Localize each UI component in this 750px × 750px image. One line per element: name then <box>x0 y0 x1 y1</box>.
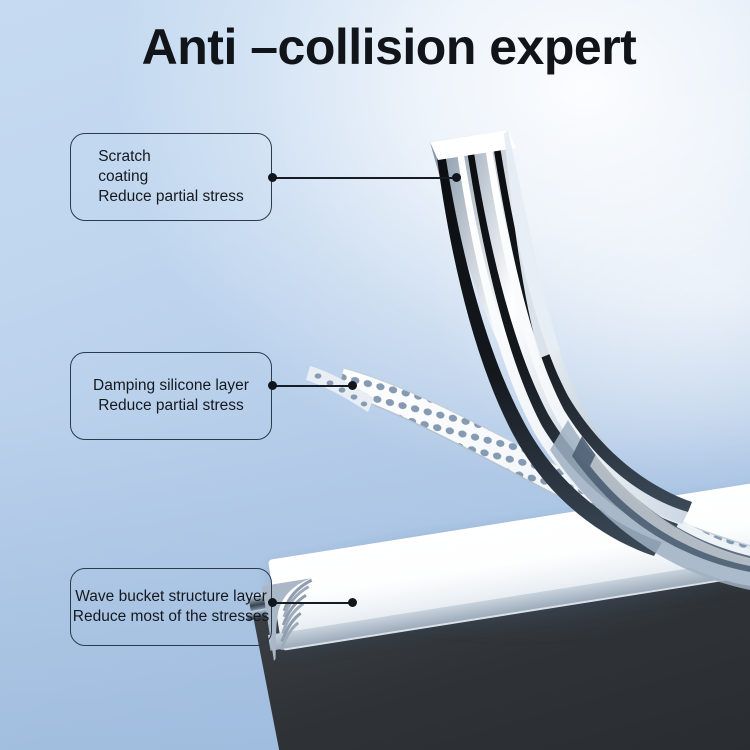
callout-text-group: Damping silicone layer Reduce partial st… <box>65 376 277 416</box>
connector-dot-target-wave-bucket-structure-layer <box>348 598 357 607</box>
callout-line: coating <box>98 167 244 187</box>
product-marketing-image: Anti –collision expert Scratch coating R… <box>0 0 750 750</box>
callout-scratch-coating[interactable]: Scratch coating Reduce partial stress <box>70 133 272 221</box>
callout-line: Reduce partial stress <box>98 187 244 207</box>
callout-damping-silicone-layer[interactable]: Damping silicone layer Reduce partial st… <box>70 352 272 440</box>
connector-dot-target-scratch-coating <box>452 173 461 182</box>
connector-dot-box-damping-silicone-layer <box>268 381 277 390</box>
page-title: Anti –collision expert <box>0 18 750 76</box>
callout-line: Reduce partial stress <box>65 396 277 416</box>
connector-line-damping-silicone-layer <box>272 385 352 387</box>
connector-dot-box-scratch-coating <box>268 173 277 182</box>
callout-wave-bucket-structure-layer[interactable]: Wave bucket structure layer Reduce most … <box>70 568 272 646</box>
callout-line: Wave bucket structure layer <box>65 587 277 607</box>
callout-line: Damping silicone layer <box>65 376 277 396</box>
callout-text-group: Wave bucket structure layer Reduce most … <box>65 587 277 627</box>
callout-line: Reduce most of the stresses <box>65 607 277 627</box>
callout-text-group: Scratch coating Reduce partial stress <box>98 147 244 207</box>
connector-line-wave-bucket-structure-layer <box>272 602 352 604</box>
connector-dot-box-wave-bucket-structure-layer <box>268 598 277 607</box>
connector-dot-target-damping-silicone-layer <box>348 381 357 390</box>
callout-line: Scratch <box>98 147 244 167</box>
connector-line-scratch-coating <box>272 177 456 179</box>
